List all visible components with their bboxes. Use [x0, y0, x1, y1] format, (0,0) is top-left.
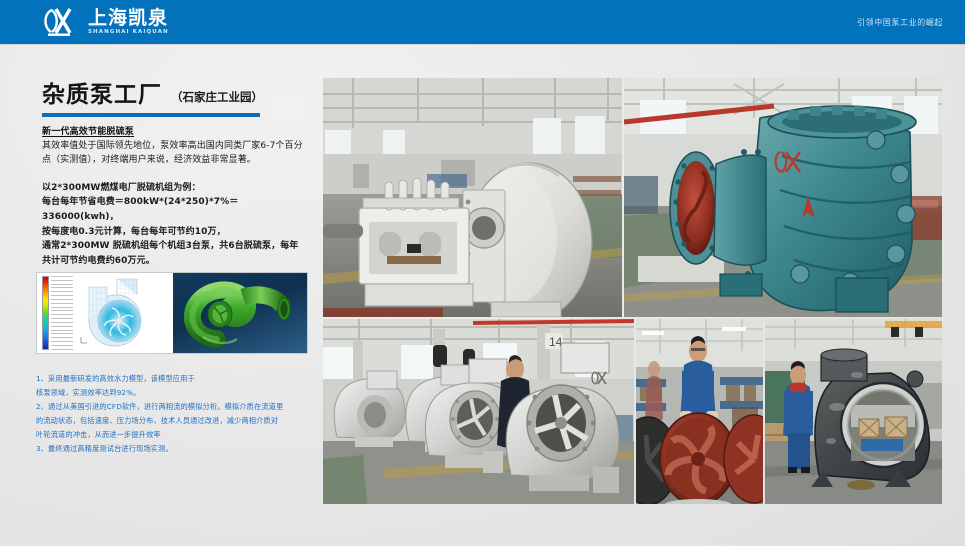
- photo-gallery: 14: [323, 78, 943, 504]
- photo-pump-casing-row: 14: [323, 319, 634, 504]
- photo-raw-casting: [765, 319, 942, 504]
- note-item: 叶轮流道的冲击，从而进一步提升效率: [36, 428, 316, 442]
- note-item: 2、通过从美国引进的CFD软件，进行两相流的模拟分析。模拟介质在流道里: [36, 400, 316, 414]
- savings-calculation-block: 以2*300MW燃煤电厂脱硫机组为例： 每台每年节省电费＝800kW*(24*2…: [42, 181, 310, 268]
- note-item: 3、最终通过高精度测试台进行现场实测。: [36, 442, 316, 456]
- title-underline-rule: [42, 113, 260, 117]
- calc-line-1: 以2*300MW燃煤电厂脱硫机组为例：: [42, 181, 310, 196]
- cad-volute-graphic: [173, 273, 307, 353]
- header-slogan: 引领中国泵工业的崛起: [857, 0, 943, 44]
- brand-name-cn: 上海凯泉: [88, 9, 169, 28]
- calc-line-5: 共计可节约电费约60万元。: [42, 254, 310, 269]
- brand-logo[interactable]: 上海凯泉 SHANGHAI KAIQUAN: [38, 4, 169, 40]
- photo-raw-casting-graphic: [765, 319, 942, 504]
- cfd-color-legend: [42, 276, 49, 350]
- calc-line-4: 通常2*300MW 脱硫机组每个机组3台泵，共6台脱硫泵，每年: [42, 239, 310, 254]
- note-item: 1、采用最新研发的高效水力模型，该模型应用于: [36, 372, 316, 386]
- note-item: 核泵领域，实测效率达到92%。: [36, 386, 316, 400]
- page-subtitle: （石家庄工业园）: [171, 89, 263, 107]
- left-content-column: 杂质泵工厂 （石家庄工业园） 新一代高效节能脱硫泵 其效率值处于国际领先地位，泵…: [0, 44, 320, 546]
- photo-red-impellers: [636, 319, 763, 504]
- photo-red-impellers-graphic: [636, 319, 763, 504]
- photo-white-pump-assembly-graphic: [323, 78, 622, 317]
- intro-paragraph: 其效率值处于国际领先地位，泵效率高出国内同类厂家6-7个百分点（实测值），对终端…: [42, 140, 310, 168]
- photo-blue-pump-casing-graphic: [624, 78, 942, 317]
- photo-blue-pump-casing: [624, 78, 942, 317]
- calc-line-2: 每台每年节省电费＝800kW*(24*250)*7%＝336000(kwh)，: [42, 195, 310, 224]
- title-block: 杂质泵工厂 （石家庄工业园）: [42, 84, 304, 117]
- brand-name-en: SHANGHAI KAIQUAN: [88, 30, 169, 36]
- photo-pump-casing-row-graphic: 14: [323, 319, 634, 504]
- brand-logo-text: 上海凯泉 SHANGHAI KAIQUAN: [88, 9, 169, 36]
- intro-heading: 新一代高效节能脱硫泵: [42, 124, 310, 137]
- photo-white-pump-assembly: [323, 78, 622, 317]
- technical-notes-list: 1、采用最新研发的高效水力模型，该模型应用于 核泵领域，实测效率达到92%。 2…: [36, 372, 316, 456]
- body-text-block: 新一代高效节能脱硫泵 其效率值处于国际领先地位，泵效率高出国内同类厂家6-7个百…: [42, 124, 310, 268]
- kq-monogram-icon: [38, 5, 82, 39]
- page-title: 杂质泵工厂: [42, 84, 162, 107]
- cad-volute-model-image: [173, 273, 307, 353]
- note-item: 的流动状态，包括速度、压力场分布，技术人员通过改进，减少两相介质对: [36, 414, 316, 428]
- cfd-volute-mesh-graphic: [63, 273, 173, 353]
- calc-line-3: 按每度电0.3元计算，每台每年可节约10万，: [42, 225, 310, 240]
- simulation-figure-row: [36, 272, 308, 354]
- cfd-simulation-image: [37, 273, 173, 353]
- page-header: 上海凯泉 SHANGHAI KAIQUAN 引领中国泵工业的崛起: [0, 0, 965, 44]
- slide-canvas: 上海凯泉 SHANGHAI KAIQUAN 引领中国泵工业的崛起 杂质泵工厂 （…: [0, 0, 965, 546]
